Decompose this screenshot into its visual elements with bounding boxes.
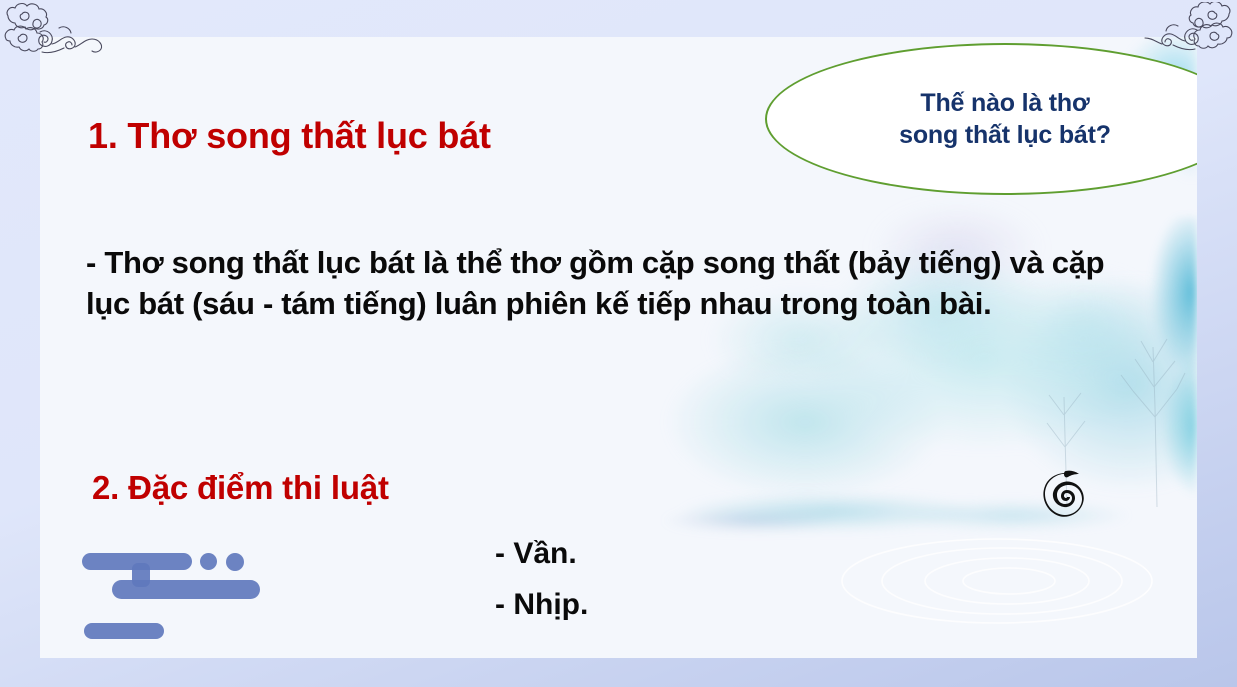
- question-callout-text: Thế nào là thơ song thất lục bát?: [859, 87, 1151, 151]
- section-heading-2: 2. Đặc điểm thi luật: [92, 469, 389, 507]
- brush-bar-2: [112, 580, 260, 599]
- cloud-swirl-icon: [2, 2, 110, 64]
- list-item: - Vần.: [495, 537, 577, 571]
- slide-frame: 1. Thơ song thất lục bát - Thơ song thất…: [0, 0, 1237, 687]
- cloud-swirl-icon: [1135, 2, 1235, 60]
- slide-canvas: 1. Thơ song thất lục bát - Thơ song thất…: [40, 37, 1197, 658]
- body-paragraph: - Thơ song thất lục bát là thể thơ gồm c…: [86, 243, 1156, 325]
- brush-dot-1: [200, 553, 217, 570]
- brush-bar-3: [84, 623, 164, 639]
- question-callout-oval[interactable]: Thế nào là thơ song thất lục bát?: [765, 43, 1197, 195]
- water-ripple-icon: [837, 523, 1157, 633]
- brush-dot-2: [226, 553, 244, 571]
- callout-line-1: Thế nào là thơ: [899, 87, 1111, 119]
- callout-line-2: song thất lục bát?: [899, 119, 1111, 151]
- list-item: - Nhịp.: [495, 588, 588, 622]
- watercolor-mist-band: [647, 477, 1167, 547]
- section-heading-1: 1. Thơ song thất lục bát: [88, 115, 491, 157]
- spiral-swirl-icon: [1040, 469, 1086, 521]
- brush-stroke-graphic: [68, 545, 298, 650]
